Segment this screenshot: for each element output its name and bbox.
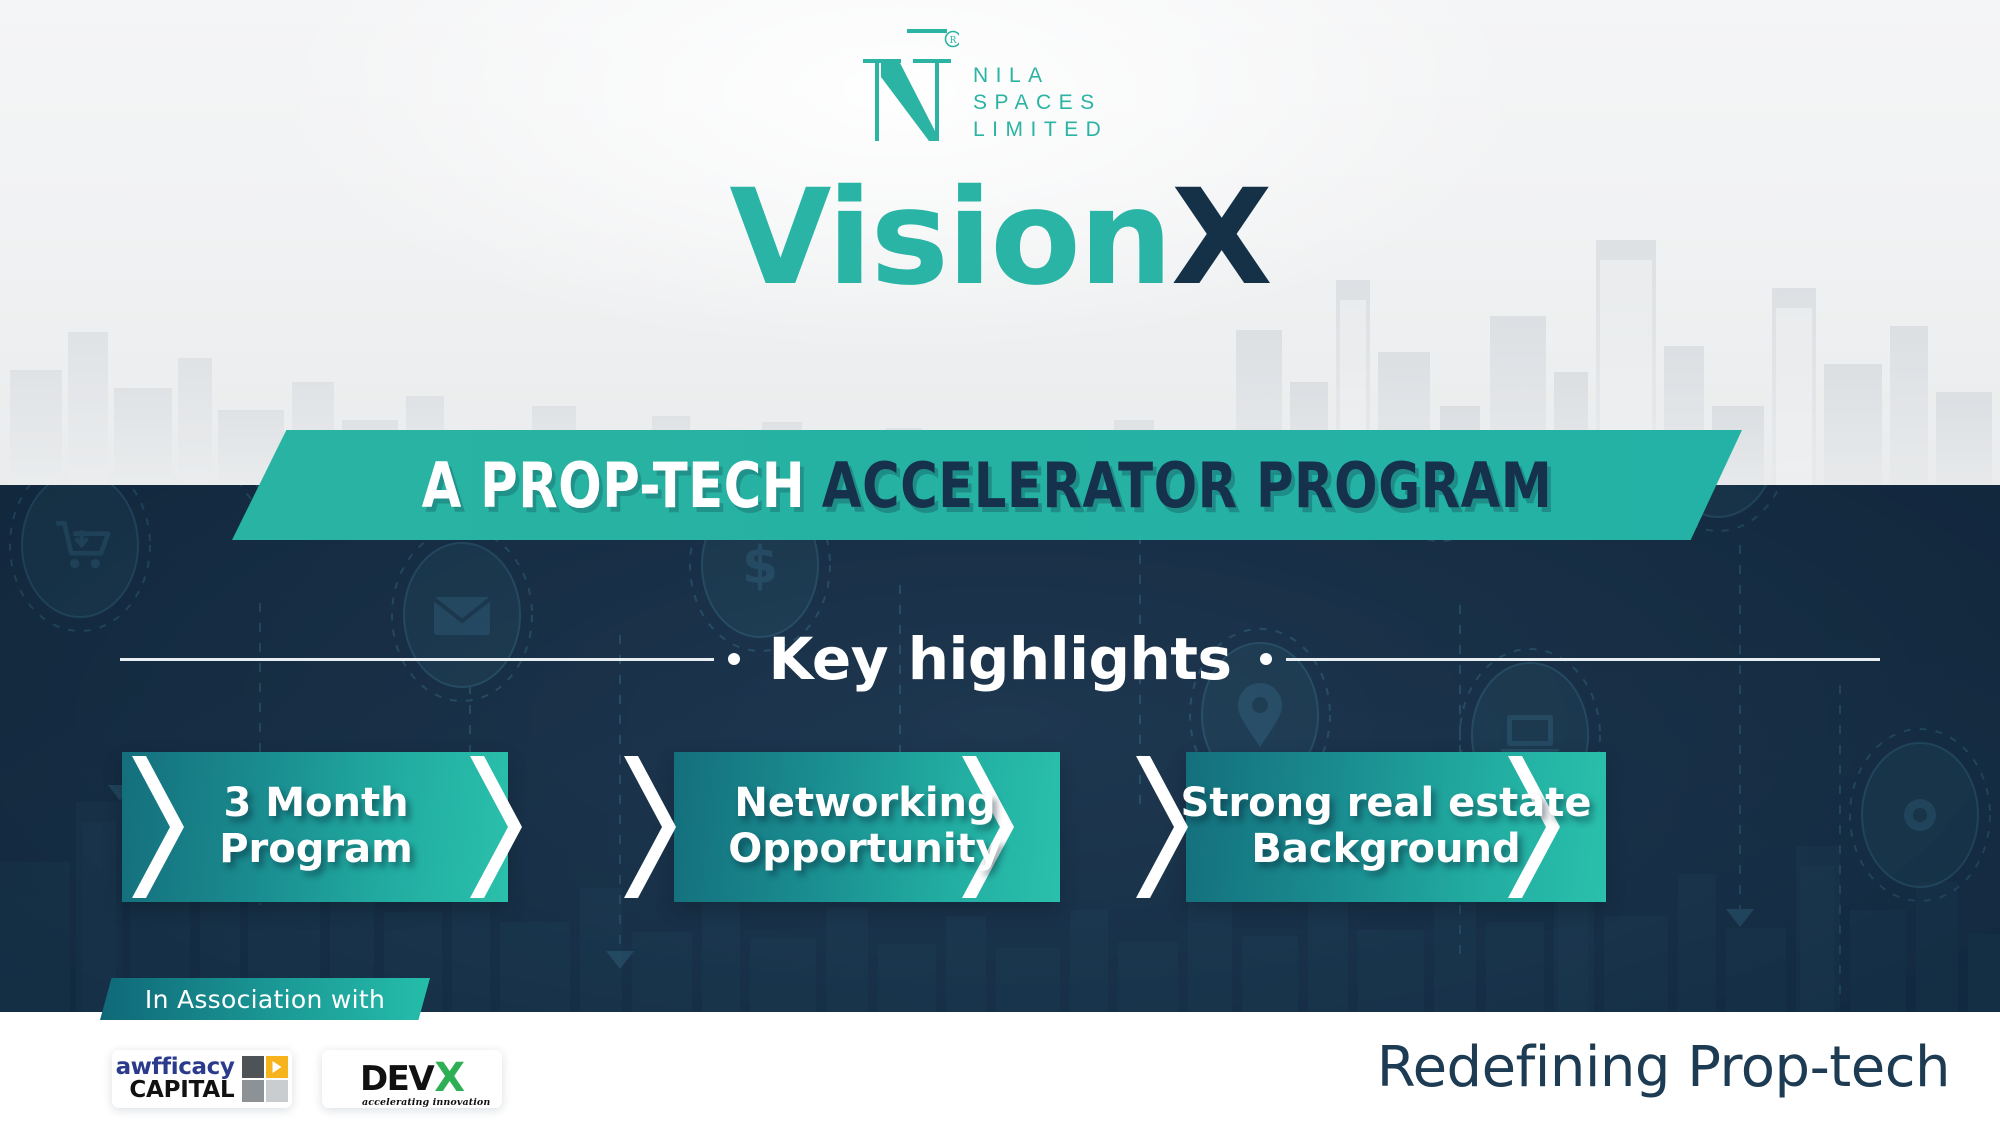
key-highlights-heading-row: Key highlights <box>120 620 1880 698</box>
divider-dot-left <box>728 653 740 665</box>
partner-logo-devx[interactable]: DEV X accelerating innovation <box>322 1050 502 1108</box>
divider-line-left <box>120 658 714 661</box>
program-ribbon: A PROP-TECH ACCELERATOR PROGRAM <box>232 430 1742 540</box>
partner-logo-awfficacy-capital[interactable]: awfficacy CAPITAL <box>112 1050 292 1108</box>
nila-n-monogram-icon: R <box>855 23 959 141</box>
grid-cell-2 <box>266 1056 288 1078</box>
grid-cell-1 <box>242 1056 264 1078</box>
chevron-right-icon-2 <box>956 752 1022 902</box>
panel-vignette <box>0 485 2000 1012</box>
page-title-visionx: VisionX <box>0 172 2000 304</box>
chevron-left-icon-3 <box>1130 752 1196 902</box>
divider-line-right <box>1286 658 1880 661</box>
highlight-item-3[interactable]: Strong real estate Background <box>1130 752 1690 902</box>
in-association-label: In Association with <box>100 978 430 1020</box>
grid-cell-4 <box>266 1080 288 1102</box>
highlights-chevron-row: 3 Month Program Networking Opportunity <box>0 752 2000 902</box>
poster-canvas: R NILA SPACES LIMITED VisionX <box>0 0 2000 1144</box>
play-triangle-icon <box>273 1061 282 1073</box>
chevron-right-icon-1 <box>464 752 530 902</box>
awfficacy-wordmark-top: awfficacy <box>116 1056 235 1079</box>
brand-word-line-2: SPACES <box>973 92 1108 113</box>
highlight-item-2[interactable]: Networking Opportunity <box>618 752 1118 902</box>
key-highlights-title: Key highlights <box>754 630 1245 688</box>
dark-content-panel: $ <box>0 485 2000 1012</box>
brand-wordmark: NILA SPACES LIMITED <box>973 25 1108 140</box>
awfficacy-grid-icon <box>242 1056 288 1102</box>
ribbon-text: A PROP-TECH ACCELERATOR PROGRAM <box>292 430 1681 540</box>
chevron-left-icon-2 <box>618 752 684 902</box>
title-word-x: X <box>1171 161 1271 315</box>
svg-text:R: R <box>950 36 957 46</box>
devx-wordmark-dev: DEV <box>360 1065 433 1094</box>
nila-spaces-logo: R NILA SPACES LIMITED <box>855 22 1145 142</box>
brand-word-line-3: LIMITED <box>973 119 1108 140</box>
registered-trademark-icon: R <box>946 32 960 47</box>
highlight-item-1[interactable]: 3 Month Program <box>66 752 566 902</box>
title-word-vision: Vision <box>729 161 1171 315</box>
devx-wordmark-x: X <box>434 1063 464 1094</box>
ribbon-text-prop-tech: A PROP-TECH <box>422 449 806 522</box>
chevron-right-icon-3 <box>1502 752 1568 902</box>
devx-tagline: accelerating innovation <box>362 1097 490 1108</box>
divider-dot-right <box>1260 653 1272 665</box>
awfficacy-wordmark-bottom: CAPITAL <box>129 1079 234 1102</box>
footer-tagline: Redefining Prop-tech <box>1290 1040 1950 1096</box>
grid-cell-3 <box>242 1080 264 1102</box>
chevron-left-icon-1 <box>126 752 192 902</box>
in-association-tab: In Association with <box>100 978 430 1020</box>
ribbon-text-accelerator-program: ACCELERATOR PROGRAM <box>822 449 1553 522</box>
brand-word-line-1: NILA <box>973 65 1108 86</box>
